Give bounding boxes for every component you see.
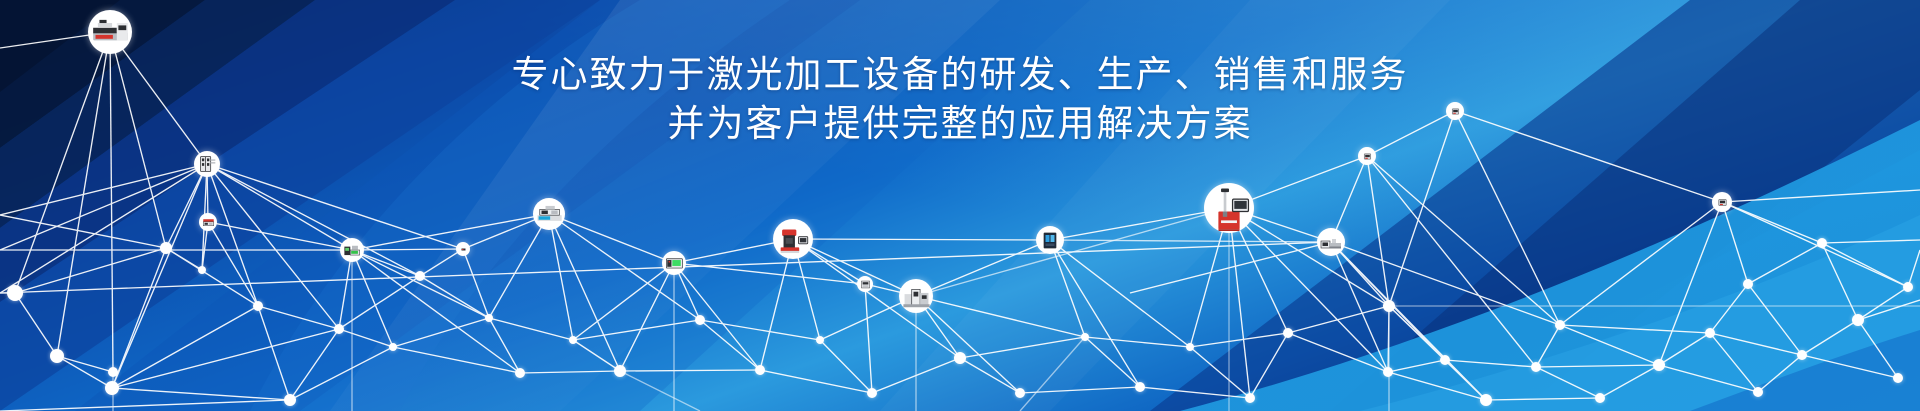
- laser-mini-unit-icon: [1713, 193, 1732, 212]
- network-dot: [334, 324, 344, 334]
- node-laser-fiber-marker: [1204, 183, 1254, 233]
- network-dot: [614, 365, 626, 377]
- laser-press-icon: [858, 277, 873, 292]
- node-laser-cabinet-1: [194, 151, 220, 177]
- node-laser-press-1: [857, 276, 873, 292]
- network-dot: [1595, 393, 1605, 403]
- laser-fiber-marker-icon: [1206, 185, 1252, 231]
- network-dot: [1893, 373, 1903, 383]
- node-laser-booth-1: [1036, 226, 1064, 254]
- network-dot: [1852, 314, 1864, 326]
- network-dot: [1480, 394, 1492, 406]
- node-laser-conveyor-1: [1317, 228, 1345, 256]
- network-dot: [105, 381, 119, 395]
- laser-mini-unit-icon: [1359, 148, 1376, 165]
- network-dot: [415, 271, 425, 281]
- node-laser-welder-1: [340, 238, 364, 262]
- network-dot: [867, 388, 877, 398]
- laser-production-line-icon: [901, 281, 932, 312]
- laser-control-panel-icon: [663, 252, 685, 274]
- network-dot: [389, 343, 397, 351]
- laser-marker-icon: [200, 214, 217, 231]
- laser-cutting-machine-icon: [90, 12, 131, 53]
- node-laser-mini-2: [1446, 102, 1464, 120]
- laser-booth-icon: [1037, 227, 1063, 253]
- network-dot: [1797, 350, 1807, 360]
- network-dot: [1653, 359, 1665, 371]
- network-dot: [253, 301, 263, 311]
- network-dot: [108, 367, 118, 377]
- network-dot: [485, 314, 493, 322]
- background-facets: [0, 0, 1920, 411]
- network-dot: [1283, 328, 1293, 338]
- network-dot: [160, 242, 172, 254]
- network-dot: [50, 349, 64, 363]
- network-dot: [816, 336, 824, 344]
- network-dot: [1555, 320, 1565, 330]
- node-laser-line-1: [899, 279, 933, 313]
- network-dot: [284, 394, 296, 406]
- network-dot: [1903, 282, 1913, 292]
- network-dot: [755, 365, 765, 375]
- node-laser-mini-3: [1712, 192, 1732, 212]
- network-dot: [198, 266, 206, 274]
- laser-node-icon: [457, 243, 470, 256]
- node-dot-small-1: [456, 242, 470, 256]
- node-laser-marker-1: [199, 213, 217, 231]
- network-dot: [1081, 333, 1089, 341]
- node-laser-mini-1: [1358, 147, 1376, 165]
- network-dot: [695, 315, 705, 325]
- network-dot: [569, 336, 577, 344]
- network-dot: [1015, 388, 1025, 398]
- laser-conveyor-icon: [1318, 229, 1344, 255]
- network-dot: [1186, 343, 1194, 351]
- laser-cabinet-icon: [195, 152, 219, 176]
- network-dot: [1440, 355, 1450, 365]
- hero-banner: 专心致力于激光加工设备的研发、生产、销售和服务 并为客户提供完整的应用解决方案: [0, 0, 1920, 411]
- network-dot: [1817, 238, 1827, 248]
- laser-station-icon: [775, 221, 812, 258]
- network-dot: [1135, 382, 1145, 392]
- node-laser-bed-1: [533, 198, 565, 230]
- network-dot: [1705, 328, 1715, 338]
- network-dot: [1383, 300, 1395, 312]
- network-dot: [1245, 393, 1255, 403]
- network-dot: [7, 285, 23, 301]
- network-dot: [1531, 362, 1541, 372]
- network-dot: [954, 352, 966, 364]
- network-dot: [1383, 367, 1393, 377]
- node-laser-cutter-1: [88, 10, 132, 54]
- node-laser-station-1: [773, 219, 813, 259]
- node-laser-panel-1: [662, 251, 686, 275]
- laser-mini-unit-icon: [1447, 103, 1464, 120]
- laser-welder-icon: [341, 239, 363, 261]
- network-dot: [515, 368, 525, 378]
- network-dot: [1753, 387, 1763, 397]
- laser-bed-machine-icon: [534, 199, 564, 229]
- network-dot: [1743, 279, 1753, 289]
